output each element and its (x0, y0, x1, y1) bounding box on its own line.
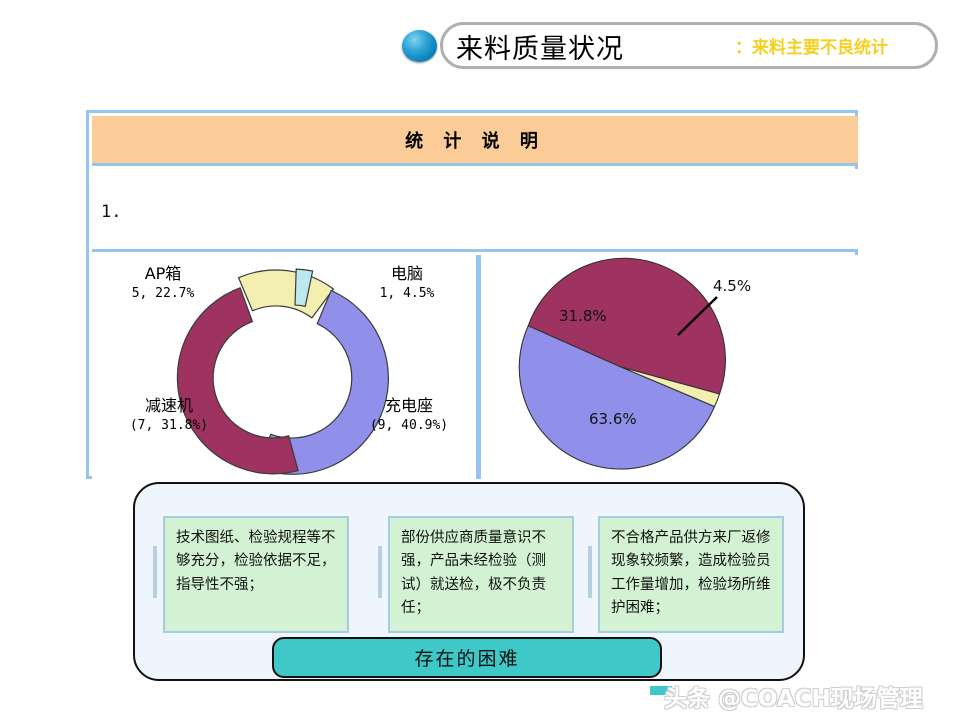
accent-bar-2 (378, 546, 382, 598)
accent-bar-3 (588, 546, 592, 598)
doughnut-label-computer-value: 1, 4.5% (342, 285, 472, 303)
doughnut-label-charging-dock-value: (9, 40.9%) (334, 417, 484, 435)
page-title: 来料质量状况 (456, 27, 624, 66)
doughnut-label-reducer-name: 减速机 (94, 395, 244, 417)
pie-data-label-318: 31.8% (559, 307, 607, 325)
watermark-text: 头条 @COACH现场管理 (664, 679, 923, 713)
statistics-note-area: 1. (92, 169, 858, 252)
difficulty-item-3: 不合格产品供方来厂返修现象较频繁，造成检验员工作量增加，检验场所维护困难； (598, 516, 784, 633)
pie-data-label-636: 63.6% (589, 410, 637, 428)
blue-sphere-icon (402, 30, 437, 62)
accent-bar-1 (153, 546, 157, 598)
statistics-section-header: 统 计 说 明 (92, 116, 858, 166)
statistics-panel: 统 计 说 明 1. (86, 110, 858, 479)
doughnut-label-ap-box-value: 5, 22.7% (98, 285, 228, 303)
difficulty-item-1: 技术图纸、检验规程等不够充分，检验依据不足，指导性不强； (163, 516, 349, 633)
doughnut-label-reducer: 减速机 (7, 31.8%) (94, 395, 244, 434)
statistics-section-title: 统 计 说 明 (405, 127, 545, 153)
pie-chart-pane: 31.8% 63.6% 4.5% (481, 255, 858, 479)
doughnut-label-computer-name: 电脑 (342, 263, 472, 285)
doughnut-label-ap-box: AP箱 5, 22.7% (98, 263, 228, 302)
doughnut-label-reducer-value: (7, 31.8%) (94, 417, 244, 435)
doughnut-label-computer: 电脑 1, 4.5% (342, 263, 472, 302)
difficulty-item-2: 部份供应商质量意识不强，产品未经检验（测试）就送检，极不负责任； (388, 516, 574, 633)
difficulties-banner: 存在的困难 (272, 637, 662, 678)
doughnut-label-charging-dock-name: 充电座 (334, 395, 484, 417)
difficulties-banner-label: 存在的困难 (414, 644, 519, 671)
page-subtitle: ：来料主要不良统计 (735, 33, 888, 58)
doughnut-chart-pane: AP箱 5, 22.7% 电脑 1, 4.5% 减速机 (7, 31.8%) 充… (92, 255, 476, 479)
doughnut-label-charging-dock: 充电座 (9, 40.9%) (334, 395, 484, 434)
pie-data-label-45: 4.5% (713, 277, 751, 295)
statistics-note-text: 1. (101, 202, 121, 222)
doughnut-label-ap-box-name: AP箱 (98, 263, 228, 285)
charts-area: AP箱 5, 22.7% 电脑 1, 4.5% 减速机 (7, 31.8%) 充… (92, 255, 858, 479)
pie-chart (481, 255, 858, 479)
